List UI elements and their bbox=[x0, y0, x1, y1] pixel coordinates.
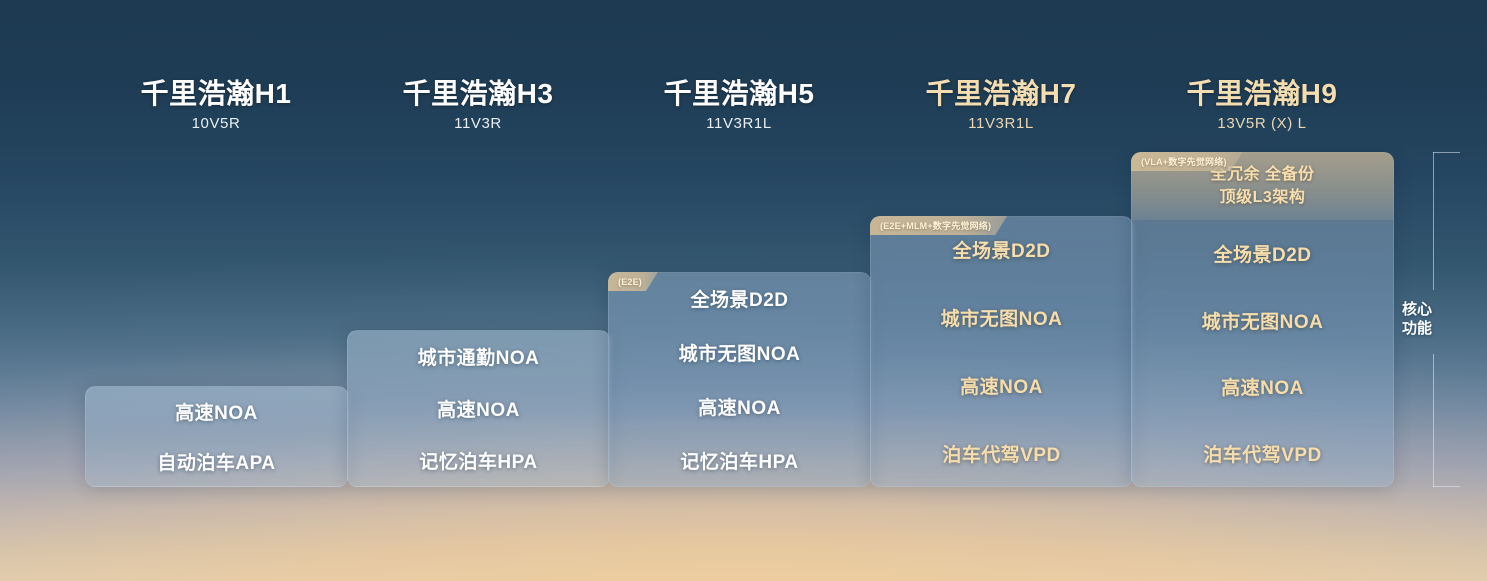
feature-row: 高速NOA bbox=[347, 382, 610, 434]
column-header-h7: 千里浩瀚H7 11V3R1L bbox=[870, 78, 1132, 132]
column-header-h1: 千里浩瀚H1 10V5R bbox=[85, 78, 347, 132]
feature-row: 城市通勤NOA bbox=[347, 330, 610, 382]
feature-card-h1[interactable]: 高速NOA 自动泊车APA bbox=[85, 386, 348, 487]
bracket-bottom-cap bbox=[1433, 486, 1460, 487]
feature-card-h3-body: 城市通勤NOA 高速NOA 记忆泊车HPA bbox=[347, 330, 610, 487]
comparison-stage: 千里浩瀚H1 10V5R 千里浩瀚H3 11V3R 千里浩瀚H5 11V3R1L… bbox=[0, 0, 1487, 581]
tech-badge-h7: (E2E+MLM+数字先觉网络) bbox=[870, 216, 1007, 235]
core-function-bracket: 核心 功能 bbox=[1408, 152, 1480, 487]
feature-row: 泊车代驾VPD bbox=[1131, 420, 1394, 487]
bracket-top-cap bbox=[1433, 152, 1460, 153]
column-title-h3: 千里浩瀚H3 bbox=[347, 78, 609, 110]
column-header-h3: 千里浩瀚H3 11V3R bbox=[347, 78, 609, 132]
feature-card-h5-body: 全场景D2D 城市无图NOA 高速NOA 记忆泊车HPA bbox=[608, 272, 871, 487]
column-subtitle-h7: 11V3R1L bbox=[870, 115, 1132, 132]
feature-row: 城市无图NOA bbox=[870, 284, 1133, 352]
feature-list-h9: 全场景D2D 城市无图NOA 高速NOA 泊车代驾VPD bbox=[1131, 152, 1394, 487]
feature-card-h1-body: 高速NOA 自动泊车APA bbox=[85, 386, 348, 487]
core-function-label: 核心 功能 bbox=[1402, 301, 1432, 339]
column-subtitle-h3: 11V3R bbox=[347, 115, 609, 132]
feature-card-h7[interactable]: 全场景D2D 城市无图NOA 高速NOA 泊车代驾VPD (E2E+MLM+数字… bbox=[870, 216, 1133, 487]
feature-row: 泊车代驾VPD bbox=[870, 419, 1133, 487]
feature-list-h1: 高速NOA 自动泊车APA bbox=[85, 386, 348, 487]
column-title-h1: 千里浩瀚H1 bbox=[85, 78, 347, 110]
feature-card-h5[interactable]: 全场景D2D 城市无图NOA 高速NOA 记忆泊车HPA (E2E) bbox=[608, 272, 871, 487]
feature-row: 高速NOA bbox=[85, 386, 348, 437]
feature-list-h3: 城市通勤NOA 高速NOA 记忆泊车HPA bbox=[347, 330, 610, 487]
bracket-line-upper bbox=[1433, 152, 1434, 290]
column-subtitle-h1: 10V5R bbox=[85, 115, 347, 132]
bracket-line-lower bbox=[1433, 354, 1434, 487]
column-title-h5: 千里浩瀚H5 bbox=[608, 78, 870, 110]
core-function-line-1: 核心 bbox=[1402, 301, 1432, 320]
column-title-h9: 千里浩瀚H9 bbox=[1131, 78, 1393, 110]
column-subtitle-h9: 13V5R (X) L bbox=[1131, 115, 1393, 132]
feature-row: 高速NOA bbox=[608, 380, 871, 434]
tech-badge-h9: (VLA+数字先觉网络) bbox=[1131, 152, 1243, 171]
feature-row: 全场景D2D bbox=[1131, 220, 1394, 287]
feature-list-h5: 全场景D2D 城市无图NOA 高速NOA 记忆泊车HPA bbox=[608, 272, 871, 487]
feature-card-h3[interactable]: 城市通勤NOA 高速NOA 记忆泊车HPA bbox=[347, 330, 610, 487]
column-subtitle-h5: 11V3R1L bbox=[608, 115, 870, 132]
core-function-line-2: 功能 bbox=[1402, 320, 1432, 339]
feature-row: 自动泊车APA bbox=[85, 437, 348, 488]
column-title-h7: 千里浩瀚H7 bbox=[870, 78, 1132, 110]
feature-row: 记忆泊车HPA bbox=[608, 433, 871, 487]
feature-card-h9-body: 全冗余 全备份 顶级L3架构 全场景D2D 城市无图NOA 高速NOA 泊车代驾… bbox=[1131, 152, 1394, 487]
column-header-h9: 千里浩瀚H9 13V5R (X) L bbox=[1131, 78, 1393, 132]
feature-card-h7-body: 全场景D2D 城市无图NOA 高速NOA 泊车代驾VPD bbox=[870, 216, 1133, 487]
feature-list-h7: 全场景D2D 城市无图NOA 高速NOA 泊车代驾VPD bbox=[870, 216, 1133, 487]
feature-row: 城市无图NOA bbox=[608, 326, 871, 380]
column-header-h5: 千里浩瀚H5 11V3R1L bbox=[608, 78, 870, 132]
feature-row: 城市无图NOA bbox=[1131, 287, 1394, 354]
feature-row: 记忆泊车HPA bbox=[347, 435, 610, 487]
feature-row: 高速NOA bbox=[1131, 354, 1394, 421]
feature-card-h9[interactable]: 全冗余 全备份 顶级L3架构 全场景D2D 城市无图NOA 高速NOA 泊车代驾… bbox=[1131, 152, 1394, 487]
feature-row: 高速NOA bbox=[870, 352, 1133, 420]
